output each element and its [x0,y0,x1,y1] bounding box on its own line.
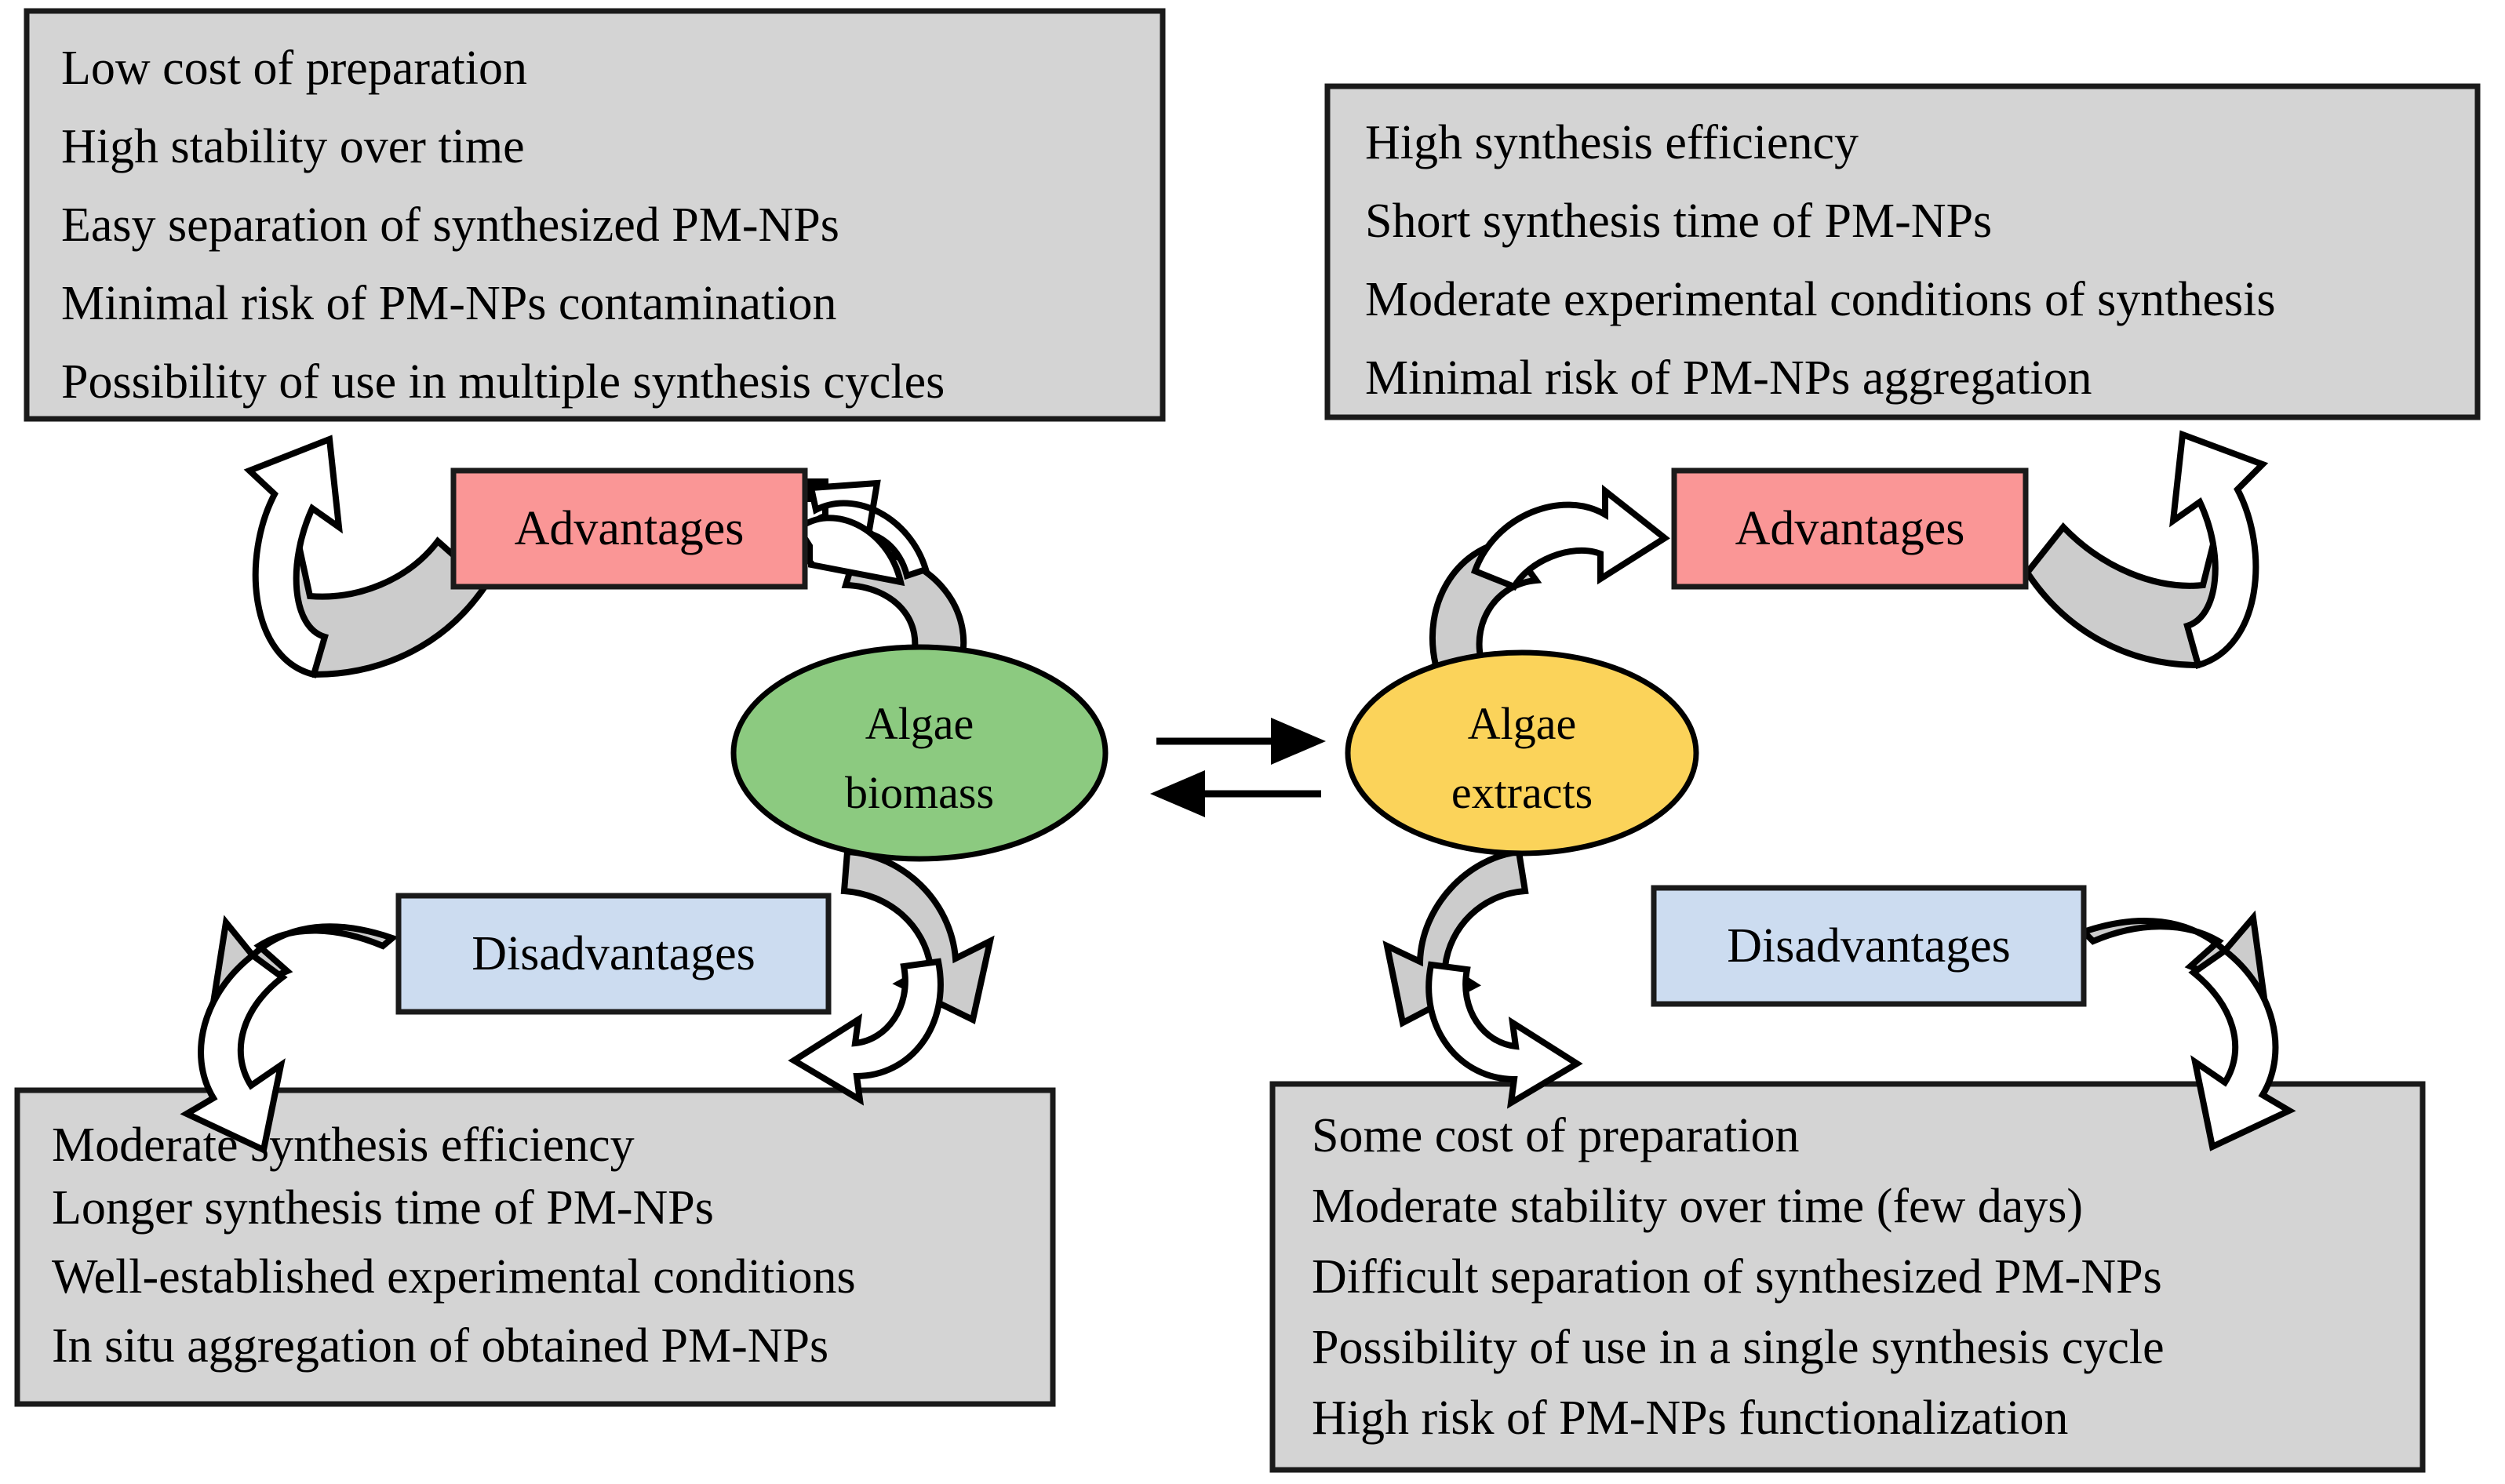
node-algae-extracts-label-line2: extracts [1451,767,1593,818]
node-algae-biomass[interactable]: Algae biomass [734,647,1105,859]
node-algae-biomass-label-line1: Algae [865,698,974,749]
chip-biomass-advantages[interactable]: Advantages [453,471,805,587]
diagram-canvas: Low cost of preparation High stability o… [0,0,2505,1484]
panel-biomass-disadvantages-line-2: Longer synthesis time of PM-NPs [52,1181,714,1235]
curved-arrow-extracts-advantages-to-panel [2027,435,2263,665]
node-algae-biomass-label-line2: biomass [845,767,994,818]
panel-extracts-advantages-line-1: High synthesis efficiency [1365,116,1859,169]
node-algae-extracts-label-line1: Algae [1468,698,1577,749]
chip-extracts-disadvantages[interactable]: Disadvantages [1654,888,2084,1004]
chip-extracts-disadvantages-label: Disadvantages [1727,919,2011,973]
panel-extracts-disadvantages-line-5: High risk of PM-NPs functionalization [1312,1391,2068,1445]
algae-advantages-diagram: Low cost of preparation High stability o… [0,0,2505,1484]
arrow-head-segment [2194,951,2289,1147]
panel-biomass-disadvantages-line-3: Well-established experimental conditions [52,1250,856,1304]
panel-biomass-advantages-line-5: Possibility of use in multiple synthesis… [61,355,945,409]
chip-extracts-advantages-label: Advantages [1735,502,1965,555]
equilibrium-connector [1150,718,1326,817]
panel-biomass-advantages-line-2: High stability over time [61,120,525,173]
arrow-head-segment [2173,435,2263,665]
panel-extracts-advantages: High synthesis efficiency Short synthesi… [1327,86,2478,417]
panel-extracts-advantages-line-2: Short synthesis time of PM-NPs [1365,195,1992,248]
chip-biomass-disadvantages-label: Disadvantages [472,927,756,980]
arrow-head-segment [249,439,339,675]
panel-biomass-advantages-line-1: Low cost of preparation [61,42,527,95]
panel-biomass-advantages-line-4: Minimal risk of PM-NPs contamination [61,277,837,330]
curved-arrow-extracts-to-disadvantages [1387,852,1577,1103]
panel-extracts-disadvantages-line-2: Moderate stability over time (few days) [1312,1180,2083,1233]
panel-extracts-disadvantages: Some cost of preparation Moderate stabil… [1273,1084,2423,1470]
panel-biomass-disadvantages-line-1: Moderate synthesis efficiency [52,1118,635,1172]
panel-biomass-disadvantages-line-4: In situ aggregation of obtained PM-NPs [52,1319,828,1373]
chip-biomass-disadvantages[interactable]: Disadvantages [399,896,828,1012]
node-algae-extracts[interactable]: Algae extracts [1348,653,1696,853]
panel-extracts-disadvantages-line-1: Some cost of preparation [1312,1109,1800,1162]
forward-arrow-head-icon [1271,718,1326,765]
panel-biomass-disadvantages: Moderate synthesis efficiency Longer syn… [17,1090,1053,1404]
panel-extracts-advantages-line-3: Moderate experimental conditions of synt… [1365,273,2276,326]
arrow-head-segment [1475,491,1665,587]
chip-extracts-advantages[interactable]: Advantages [1674,471,2026,587]
arrow-head-segment [187,955,282,1150]
node-algae-extracts-shape[interactable] [1348,653,1696,853]
panel-biomass-advantages: Low cost of preparation High stability o… [27,11,1163,419]
panel-biomass-advantages-line-3: Easy separation of synthesized PM-NPs [61,198,839,252]
node-algae-biomass-shape[interactable] [734,647,1105,859]
chip-biomass-advantages-label: Advantages [515,502,745,555]
panel-extracts-disadvantages-line-3: Difficult separation of synthesized PM-N… [1312,1250,2162,1304]
panel-extracts-disadvantages-line-4: Possibility of use in a single synthesis… [1312,1321,2165,1374]
panel-extracts-advantages-line-4: Minimal risk of PM-NPs aggregation [1365,351,2092,405]
reverse-arrow-head-icon [1150,770,1205,817]
